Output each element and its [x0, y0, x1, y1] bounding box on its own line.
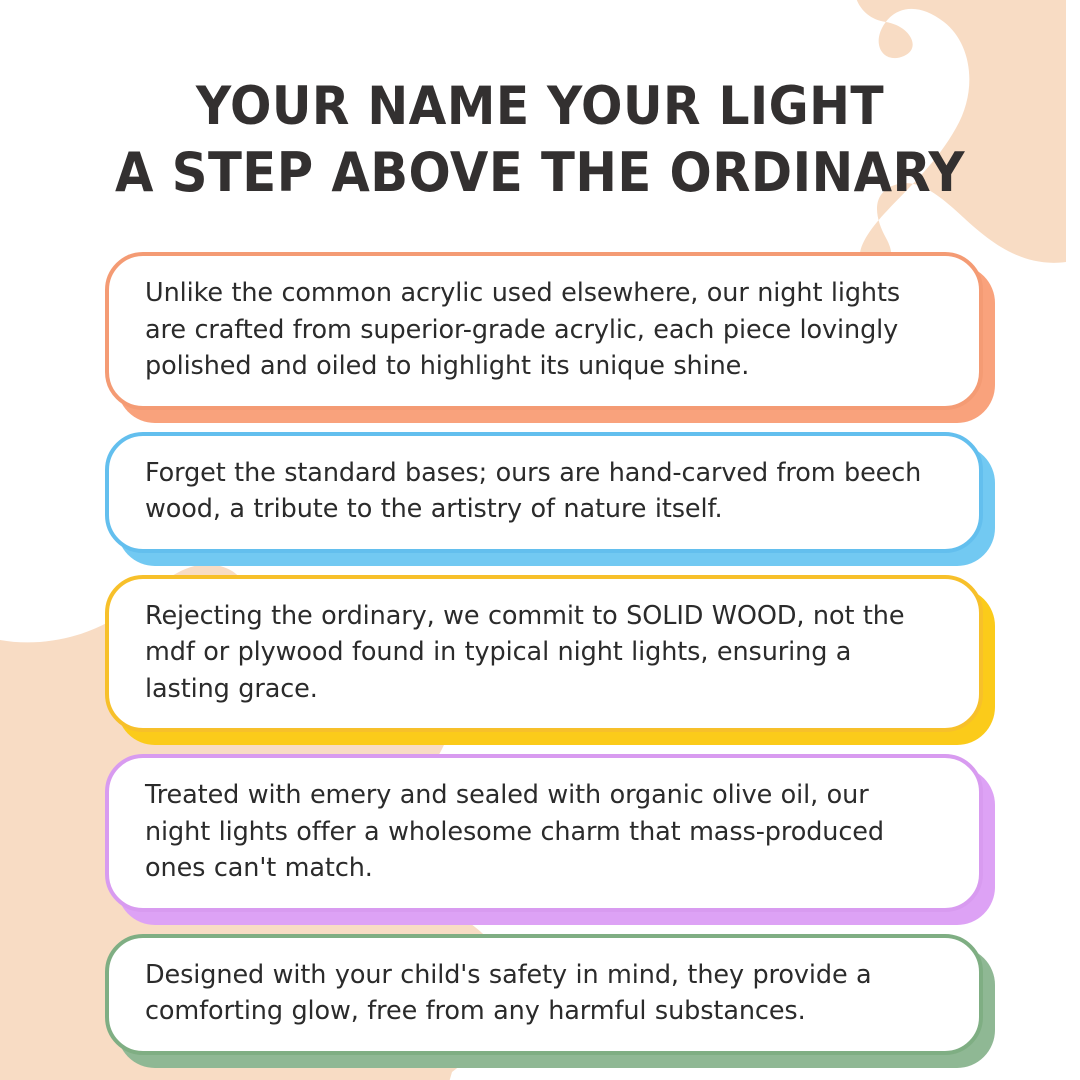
- card-text: Designed with your child's safety in min…: [145, 957, 939, 1030]
- feature-card-child-safety: Designed with your child's safety in min…: [0, 934, 1080, 1055]
- heading-line-1: YOUR NAME YOUR LIGHT: [43, 74, 1037, 140]
- card-body[interactable]: Forget the standard bases; ours are hand…: [105, 432, 983, 553]
- card-body[interactable]: Designed with your child's safety in min…: [105, 934, 983, 1055]
- card-body[interactable]: Rejecting the ordinary, we commit to SOL…: [105, 575, 983, 733]
- poster-heading: YOUR NAME YOUR LIGHT A STEP ABOVE THE OR…: [0, 74, 1080, 206]
- card-body[interactable]: Unlike the common acrylic used elsewhere…: [105, 252, 983, 410]
- card-text: Rejecting the ordinary, we commit to SOL…: [145, 598, 939, 708]
- feature-card-olive-oil: Treated with emery and sealed with organ…: [0, 754, 1080, 912]
- card-text: Unlike the common acrylic used elsewhere…: [145, 275, 939, 385]
- feature-card-beech-wood: Forget the standard bases; ours are hand…: [0, 432, 1080, 553]
- poster-canvas: YOUR NAME YOUR LIGHT A STEP ABOVE THE OR…: [0, 0, 1080, 1080]
- feature-card-list: Unlike the common acrylic used elsewhere…: [0, 252, 1080, 1077]
- heading-line-2: A STEP ABOVE THE ORDINARY: [43, 140, 1037, 206]
- card-body[interactable]: Treated with emery and sealed with organ…: [105, 754, 983, 912]
- feature-card-acrylic: Unlike the common acrylic used elsewhere…: [0, 252, 1080, 410]
- feature-card-solid-wood: Rejecting the ordinary, we commit to SOL…: [0, 575, 1080, 733]
- card-text: Treated with emery and sealed with organ…: [145, 777, 939, 887]
- card-text: Forget the standard bases; ours are hand…: [145, 455, 939, 528]
